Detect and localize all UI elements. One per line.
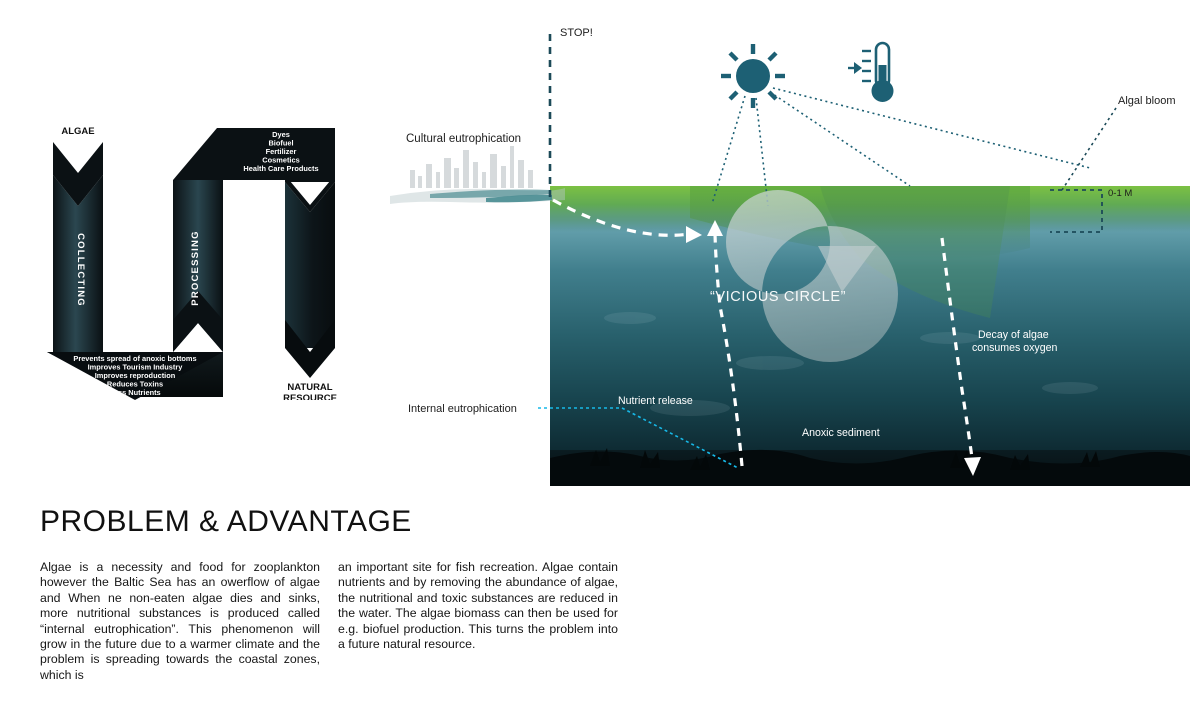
article-column-2: an important site for fish recreation. A… [338,560,618,683]
processing-label: PROCESSING [190,230,201,305]
collecting-label: COLLECTING [75,233,86,307]
algae-label: ALGAE [61,126,94,137]
decay-label-line1: Decay of algae [978,329,1049,341]
cultural-eutrophication-label: Cultural eutrophication [406,133,521,145]
stop-label: STOP! [560,27,593,39]
algal-bloom-label: Algal bloom [1118,95,1175,107]
natural-resource-arrow [285,175,335,378]
cycle-diagram-svg: ALGAE COLLECTING Prevents spread of anox… [35,120,375,400]
decay-label-line2: consumes oxygen [972,342,1057,354]
article-body: Algae is a necessity and food for zoopla… [40,560,630,683]
natural-resource-label-line1: NATURAL [287,382,332,393]
article-column-1: Algae is a necessity and food for zoopla… [40,560,320,683]
scene-svg: Cultural eutrophication STOP! [390,18,1190,486]
algal-bloom-leader-line [1062,108,1116,190]
eutrophication-scene: Cultural eutrophication STOP! [390,18,1190,486]
vicious-circle-label: “VICIOUS CIRCLE” [710,289,846,305]
nutrient-release-label: Nutrient release [618,395,693,407]
thermometer-icon [848,43,894,102]
depth-marker-label: 0-1 M [1108,188,1132,199]
benefit-item: Less Nutrients [109,388,160,397]
anoxic-sediment-label: Anoxic sediment [802,427,880,439]
natural-resource-label-line2: RESOURCE [283,393,337,400]
internal-eutrophication-label: Internal eutrophication [408,403,517,415]
algae-value-cycle-diagram: ALGAE COLLECTING Prevents spread of anox… [35,120,375,400]
products-banner [173,128,335,182]
page-title: PROBLEM & ADVANTAGE [40,505,412,539]
city-skyline-icon [390,146,565,204]
article-column-1-text: Algae is a necessity and food for zoopla… [40,560,320,683]
infographic-canvas: ALGAE COLLECTING Prevents spread of anox… [0,0,1200,727]
article-column-2-text: an important site for fish recreation. A… [338,560,618,652]
product-item: Health Care Products [243,164,318,173]
sun-icon [721,44,785,108]
